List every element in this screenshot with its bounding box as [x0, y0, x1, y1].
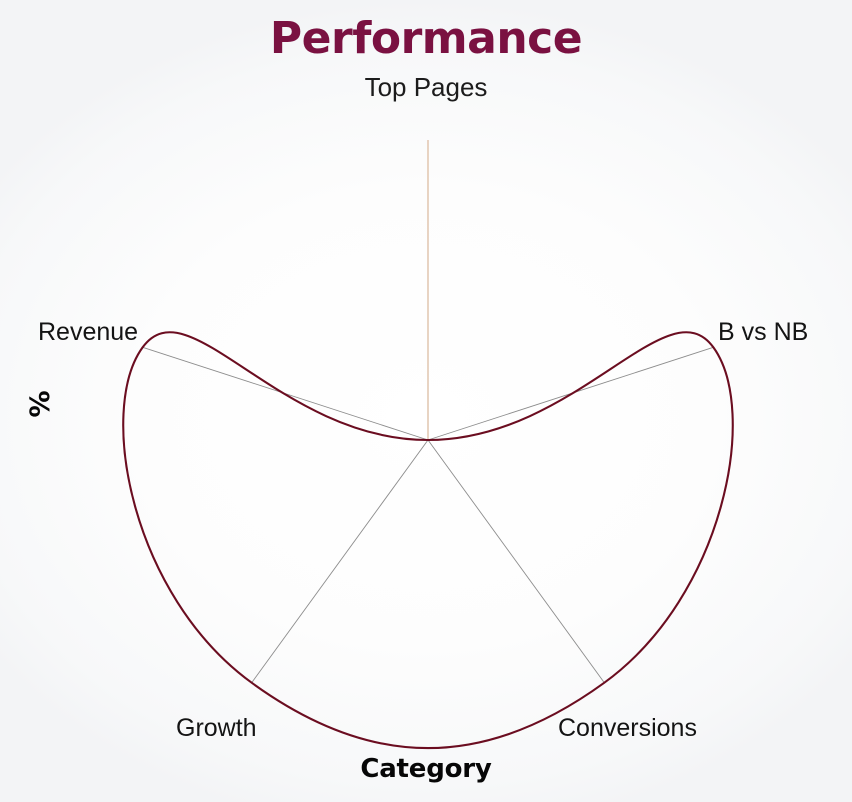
spoke-line-conversions	[428, 440, 604, 683]
y-axis-title: %	[10, 374, 70, 434]
spoke-label-growth: Growth	[176, 716, 257, 741]
spoke-line-growth	[252, 440, 428, 683]
spoke-label-revenue: Revenue	[38, 320, 138, 345]
radar-plot-area	[0, 0, 852, 802]
x-axis-title: Category	[0, 754, 852, 784]
spoke-label-b-vs-nb: B vs NB	[718, 320, 808, 345]
spoke-label-conversions: Conversions	[558, 716, 697, 741]
radar-chart-figure: Performance Top Pages Revenue B vs NB Gr…	[0, 0, 852, 802]
